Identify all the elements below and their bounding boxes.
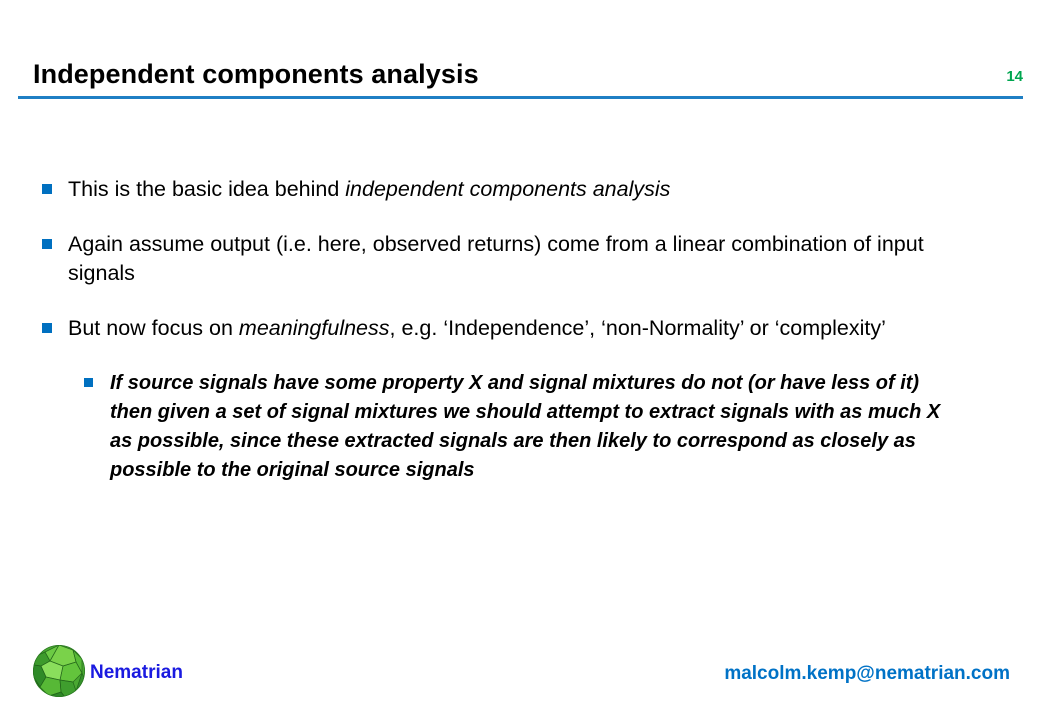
bullet-item: This is the basic idea behind independen… bbox=[0, 175, 1040, 204]
slide: Independent components analysis 14 This … bbox=[0, 0, 1040, 720]
slide-header: Independent components analysis 14 bbox=[0, 0, 1040, 105]
title-divider bbox=[18, 96, 1023, 99]
sub-bullet-item: If source signals have some property X a… bbox=[0, 369, 1040, 485]
slide-content: This is the basic idea behind independen… bbox=[0, 175, 1040, 485]
page-title: Independent components analysis bbox=[33, 59, 479, 90]
sub-bullet-marker-icon bbox=[84, 378, 93, 387]
bullet-marker-icon bbox=[42, 323, 52, 333]
bullet-marker-icon bbox=[42, 184, 52, 194]
nematrian-polyhedron-logo-icon bbox=[30, 642, 88, 700]
brand-name: Nematrian bbox=[90, 662, 183, 684]
bullet-item: But now focus on meaningfulness, e.g. ‘I… bbox=[0, 314, 1040, 343]
bullet-text: This is the basic idea behind independen… bbox=[68, 175, 970, 204]
slide-footer: Nematrian malcolm.kemp@nematrian.com bbox=[0, 630, 1040, 720]
sub-bullet-text: If source signals have some property X a… bbox=[110, 372, 940, 481]
bullet-text: Again assume output (i.e. here, observed… bbox=[68, 230, 970, 288]
bullet-text: But now focus on meaningfulness, e.g. ‘I… bbox=[68, 314, 970, 343]
page-number: 14 bbox=[1006, 68, 1023, 85]
bullet-marker-icon bbox=[42, 239, 52, 249]
bullet-item: Again assume output (i.e. here, observed… bbox=[0, 230, 1040, 288]
contact-email[interactable]: malcolm.kemp@nematrian.com bbox=[724, 663, 1010, 685]
